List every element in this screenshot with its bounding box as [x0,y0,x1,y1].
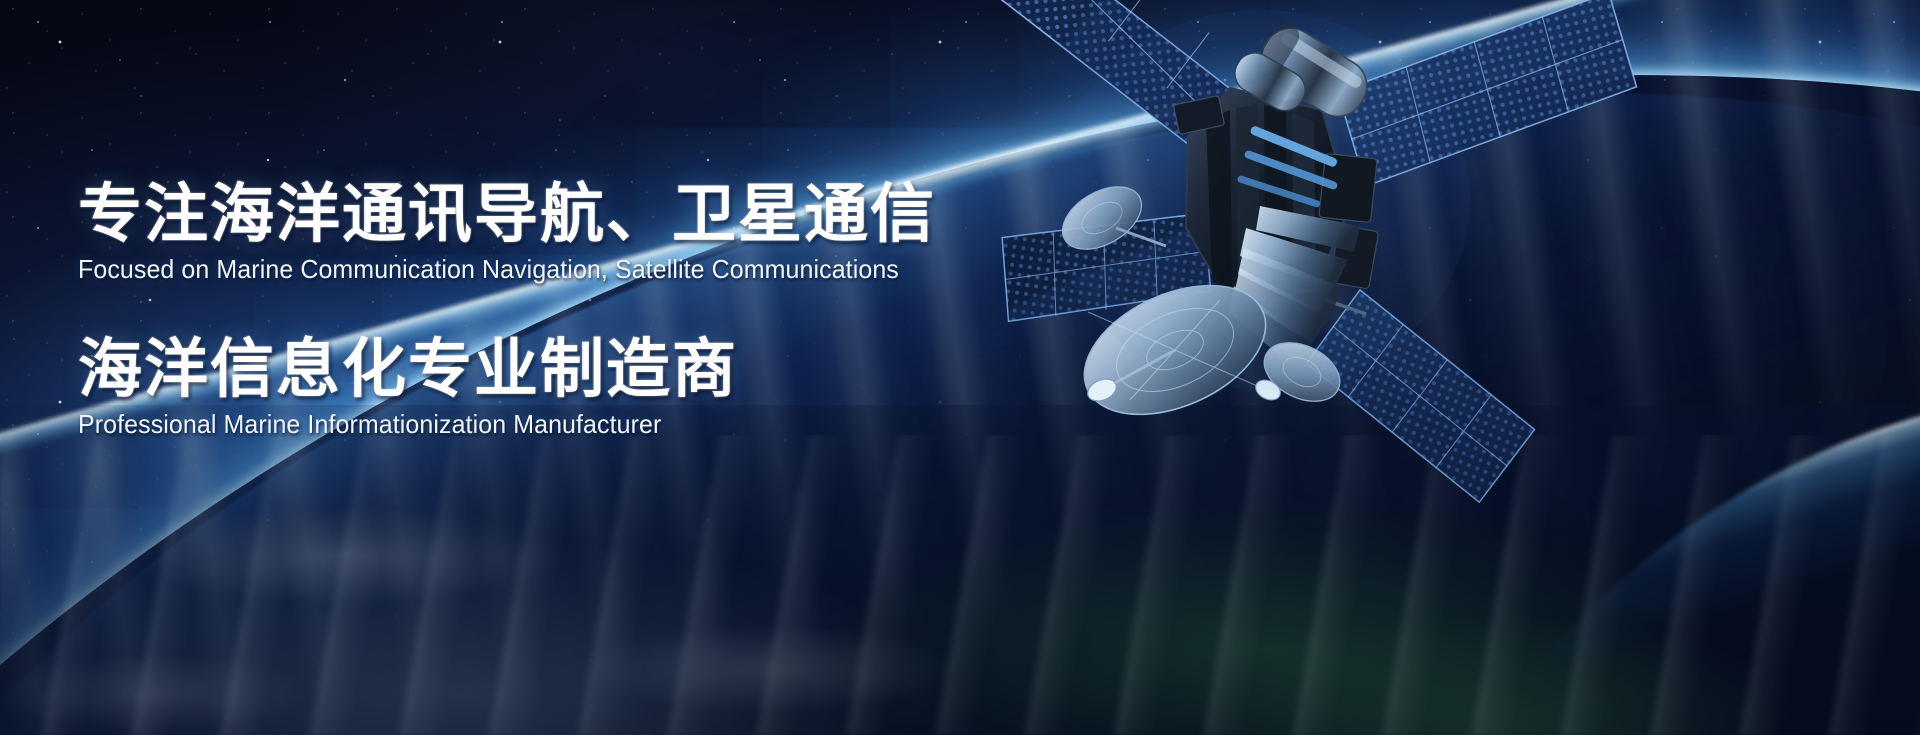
hero-banner: 专注海洋通讯导航、卫星通信 Focused on Marine Communic… [0,0,1920,735]
subtitle-primary: Focused on Marine Communication Navigati… [78,255,1076,285]
message-block-1: 专注海洋通讯导航、卫星通信 Focused on Marine Communic… [78,182,1118,285]
copy-spacer [78,285,1118,337]
message-block-2: 海洋信息化专业制造商 Professional Marine Informati… [78,337,1118,440]
earth-cloud-swirls [0,435,1920,735]
subtitle-secondary: Professional Marine Informationization M… [78,410,1076,440]
headline-primary: 专注海洋通讯导航、卫星通信 [78,182,1118,246]
banner-copy: 专注海洋通讯导航、卫星通信 Focused on Marine Communic… [78,182,1118,440]
headline-secondary: 海洋信息化专业制造商 [78,337,1118,401]
